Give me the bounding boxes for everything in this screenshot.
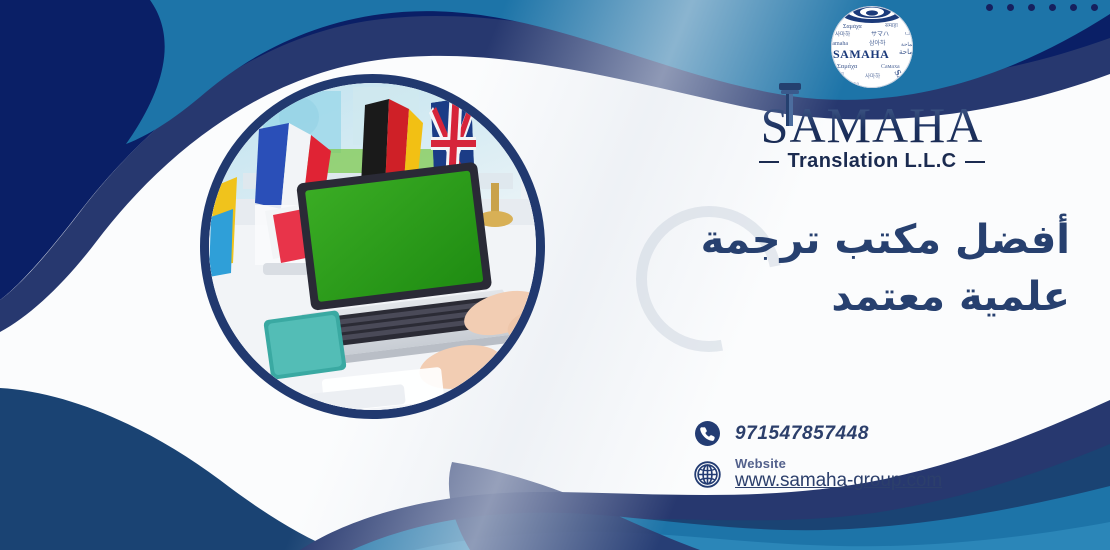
svg-text:Самаха: Самаха bbox=[905, 32, 921, 37]
svg-text:سماحة: سماحة bbox=[901, 41, 917, 48]
svg-text:समाहा: समाहा bbox=[885, 23, 898, 29]
svg-text:Σαμάχα: Σαμάχα bbox=[843, 24, 863, 30]
phone-icon bbox=[694, 420, 721, 447]
laptop-green-screen bbox=[305, 171, 483, 302]
svg-text:삼아하: 삼아하 bbox=[869, 39, 886, 47]
contact-phone-row[interactable]: 971547857448 bbox=[694, 420, 1024, 447]
logo-wordmark: SAMAHA bbox=[761, 98, 984, 152]
decor-dot bbox=[1028, 4, 1035, 11]
svg-text:サマハ: サマハ bbox=[871, 31, 889, 38]
notebook bbox=[263, 310, 347, 380]
phone-number[interactable]: 971547857448 bbox=[735, 423, 869, 445]
svg-text:사마하: 사마하 bbox=[835, 30, 850, 38]
contact-block: 971547857448 Website www.samaha-group.co… bbox=[694, 420, 1024, 492]
promo-banner: Σαμάχα समाहा 사마하 サマハ Самаха Samaha 삼아하 س… bbox=[0, 0, 1110, 550]
decor-dot bbox=[1070, 4, 1077, 11]
rule-right bbox=[965, 161, 985, 163]
flag-extra bbox=[209, 177, 237, 277]
headline-line-1: أفضل مكتب ترجمة bbox=[610, 212, 1070, 269]
website-label: Website bbox=[735, 457, 942, 471]
logo-subwordmark-text: Translation L.L.C bbox=[787, 150, 956, 173]
website-url[interactable]: www.samaha-group.com bbox=[735, 471, 942, 492]
logo-subwordmark: Translation L.L.C bbox=[722, 150, 1022, 173]
hero-photo-circle bbox=[200, 74, 545, 419]
website-text-stack: Website www.samaha-group.com bbox=[735, 457, 942, 492]
page-title: أفضل مكتب ترجمة علمية معتمد bbox=[610, 212, 1070, 326]
brand-logo: Σαμάχα समाहा 사마하 サマハ Самаха Samaha 삼아하 س… bbox=[722, 2, 1022, 174]
svg-text:SAMAHA: SAMAHA bbox=[833, 47, 889, 61]
svg-text:SAMAHA: SAMAHA bbox=[892, 68, 922, 94]
headline-line-2: علمية معتمد bbox=[610, 269, 1070, 326]
svg-text:사마하: 사마하 bbox=[865, 72, 880, 80]
hero-photo-illustration bbox=[209, 83, 536, 410]
globe-logo-icon: Σαμάχα समाहा 사마하 サマハ Самаха Samaha 삼아하 س… bbox=[813, 2, 931, 94]
contact-website-row[interactable]: Website www.samaha-group.com bbox=[694, 457, 1024, 492]
hero-photo bbox=[209, 83, 536, 410]
decor-dot bbox=[1091, 4, 1098, 11]
decor-dot bbox=[1049, 4, 1056, 11]
svg-text:سماحة: سماحة bbox=[899, 48, 919, 56]
rule-left bbox=[759, 161, 779, 163]
globe-icon bbox=[694, 461, 721, 488]
svg-text:Σαμάχα: Σαμάχα bbox=[837, 63, 858, 70]
